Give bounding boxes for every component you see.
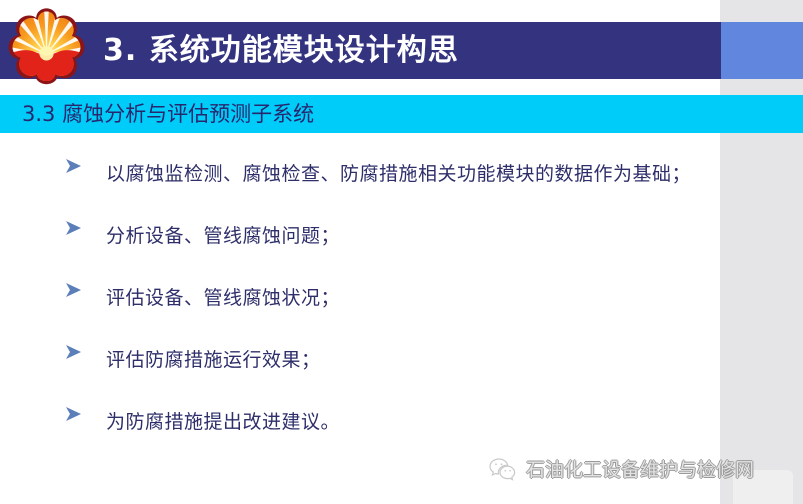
title-bar-light-band [721, 22, 803, 79]
list-item-label: 评估设备、管线腐蚀状况； [106, 276, 714, 320]
arrow-bullet-icon [64, 338, 106, 360]
wechat-icon [488, 456, 518, 482]
arrow-bullet-icon [64, 214, 106, 236]
page-title: 3. 系统功能模块设计构思 [103, 27, 459, 75]
list-item: 为防腐措施提出改进建议。 [64, 400, 714, 444]
watermark: 石油化工设备维护与检修网 [488, 455, 754, 482]
bullet-list: 以腐蚀监检测、腐蚀检查、防腐措施相关功能模块的数据作为基础； 分析设备、管线腐蚀… [64, 152, 714, 462]
arrow-bullet-icon [64, 400, 106, 422]
list-item-label: 分析设备、管线腐蚀问题； [106, 214, 714, 258]
arrow-bullet-icon [64, 276, 106, 298]
list-item-label: 为防腐措施提出改进建议。 [106, 400, 714, 444]
list-item-label: 以腐蚀监检测、腐蚀检查、防腐措施相关功能模块的数据作为基础； [106, 152, 714, 196]
list-item-label: 评估防腐措施运行效果； [106, 338, 714, 382]
list-item: 分析设备、管线腐蚀问题； [64, 214, 714, 258]
watermark-label: 石油化工设备维护与检修网 [526, 455, 754, 482]
list-item: 评估防腐措施运行效果； [64, 338, 714, 382]
section-subtitle: 3.3 腐蚀分析与评估预测子系统 [22, 99, 314, 130]
list-item: 评估设备、管线腐蚀状况； [64, 276, 714, 320]
slide-canvas: 3. 系统功能模块设计构思 3.3 腐蚀分析与评估预测子系统 以腐蚀监检测、腐蚀… [0, 0, 803, 504]
list-item: 以腐蚀监检测、腐蚀检查、防腐措施相关功能模块的数据作为基础； [64, 152, 714, 196]
arrow-bullet-icon [64, 152, 106, 174]
cnpc-petrochina-emblem-icon [7, 6, 86, 85]
